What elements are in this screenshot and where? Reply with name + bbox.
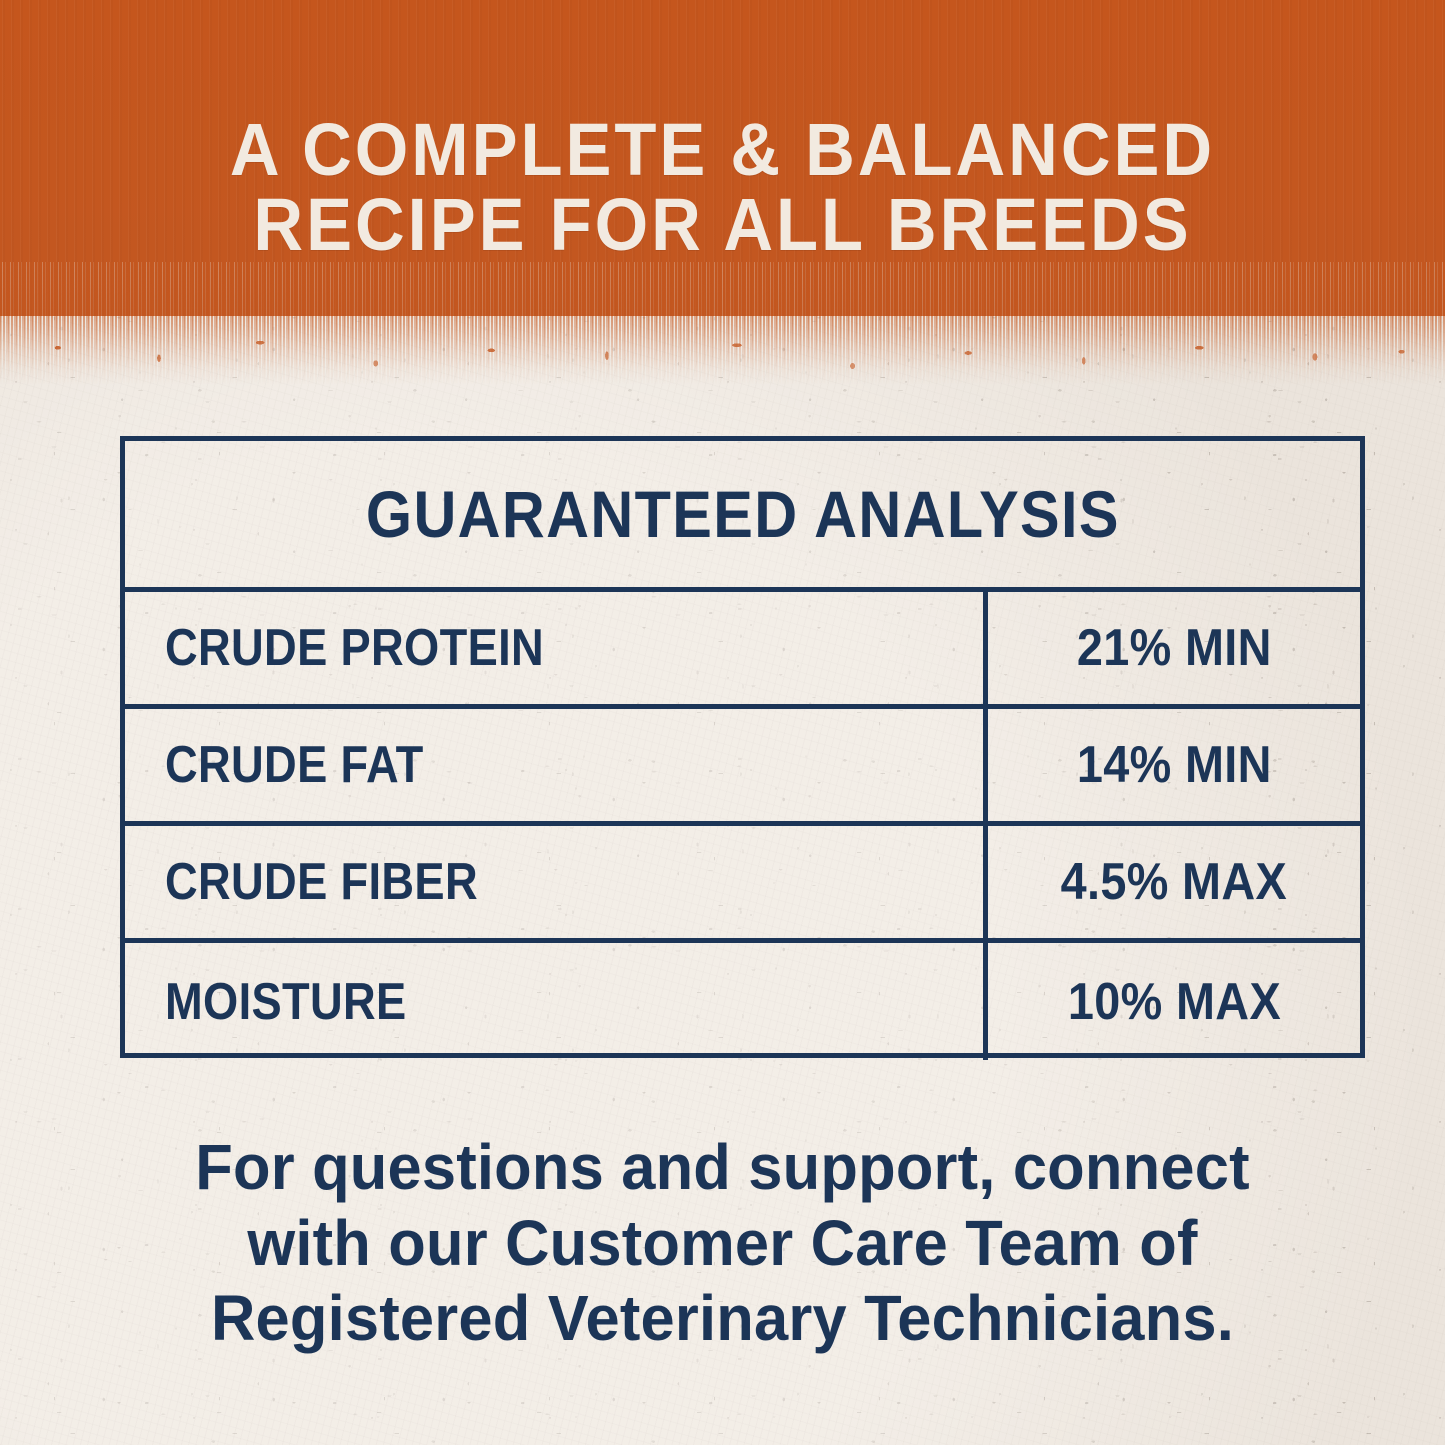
customer-support-note: For questions and support, connect with …: [90, 1130, 1355, 1357]
support-note-line-3: Registered Veterinary Technicians.: [115, 1281, 1329, 1357]
table-body: CRUDE PROTEIN 21% MIN CRUDE FAT 14% MIN …: [125, 592, 1360, 1060]
banner-headline-line-2: RECIPE FOR ALL BREEDS: [51, 187, 1395, 262]
nutrient-value-cell: 21% MIN: [988, 592, 1360, 704]
table-row: CRUDE FIBER 4.5% MAX: [125, 826, 1360, 943]
banner-headline: A COMPLETE & BALANCED RECIPE FOR ALL BRE…: [51, 112, 1395, 263]
table-row: CRUDE FAT 14% MIN: [125, 709, 1360, 826]
banner-headline-line-1: A COMPLETE & BALANCED: [51, 112, 1395, 187]
product-info-panel: A COMPLETE & BALANCED RECIPE FOR ALL BRE…: [0, 0, 1445, 1445]
nutrient-label-cell: MOISTURE: [125, 943, 988, 1060]
nutrient-label-cell: CRUDE FAT: [125, 709, 988, 821]
nutrient-label-moisture: MOISTURE: [165, 972, 407, 1032]
nutrient-label-cell: CRUDE PROTEIN: [125, 592, 988, 704]
nutrient-label-cell: CRUDE FIBER: [125, 826, 988, 938]
table-title: GUARANTEED ANALYSIS: [366, 476, 1120, 552]
table-row: CRUDE PROTEIN 21% MIN: [125, 592, 1360, 709]
nutrient-label-crude-fat: CRUDE FAT: [165, 735, 424, 795]
support-note-line-1: For questions and support, connect: [115, 1130, 1329, 1206]
nutrient-label-crude-protein: CRUDE PROTEIN: [165, 618, 544, 678]
nutrient-value-moisture: 10% MAX: [1067, 972, 1280, 1032]
nutrient-value-cell: 14% MIN: [988, 709, 1360, 821]
nutrient-label-crude-fiber: CRUDE FIBER: [165, 852, 478, 912]
table-row: MOISTURE 10% MAX: [125, 943, 1360, 1060]
support-note-line-2: with our Customer Care Team of: [115, 1206, 1329, 1282]
nutrient-value-crude-fat: 14% MIN: [1077, 735, 1272, 795]
nutrient-value-cell: 10% MAX: [988, 943, 1360, 1060]
table-header: GUARANTEED ANALYSIS: [125, 441, 1360, 592]
nutrient-value-crude-fiber: 4.5% MAX: [1061, 852, 1288, 912]
nutrient-value-crude-protein: 21% MIN: [1077, 618, 1272, 678]
nutrient-value-cell: 4.5% MAX: [988, 826, 1360, 938]
guaranteed-analysis-table: GUARANTEED ANALYSIS CRUDE PROTEIN 21% MI…: [120, 436, 1365, 1058]
